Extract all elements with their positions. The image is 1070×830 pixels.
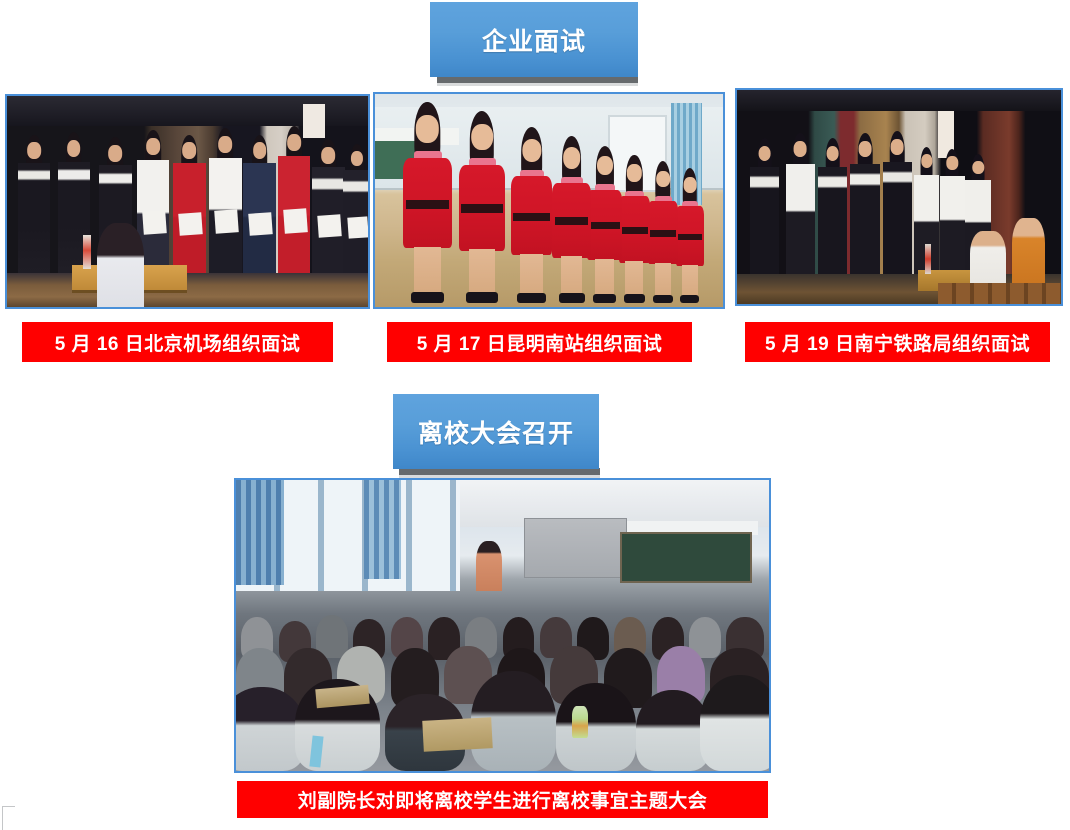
person-standing [940, 156, 966, 274]
person-red-uniform [552, 147, 590, 302]
photo-scene [236, 480, 769, 771]
person-seated-interviewer [97, 223, 144, 307]
photo-caption: 5 月 19 日南宁铁路局组织面试 [745, 322, 1050, 362]
person-standing [209, 136, 241, 273]
auditorium-seats [938, 283, 1061, 304]
photo-scene [375, 94, 723, 307]
water-bottle [83, 235, 91, 269]
curtain-left [236, 480, 284, 585]
section-header-interview-label: 企业面试 [482, 22, 586, 58]
projection-screen [524, 518, 627, 578]
textbox-corner-handle[interactable] [2, 806, 15, 830]
person-red-uniform [619, 164, 650, 302]
photo-caption: 5 月 16 日北京机场组织面试 [22, 322, 333, 362]
drink-bottle [572, 706, 588, 739]
person-standing [786, 141, 815, 274]
audience-head [556, 683, 636, 771]
person-standing [818, 146, 847, 274]
audience-head [700, 675, 771, 771]
blackboard [620, 532, 752, 583]
interview-header-shadow [437, 76, 638, 83]
person-standing [850, 141, 879, 274]
audience-crowd [236, 579, 769, 771]
stage-floor [7, 273, 368, 307]
assembly-header-shadow [399, 468, 600, 475]
person-red-uniform [511, 139, 553, 303]
document-folder [422, 717, 493, 751]
section-header-assembly[interactable]: 离校大会召开 [393, 394, 599, 469]
photo-nanning-railway-bureau-interview[interactable] [735, 88, 1063, 306]
curtain-middle [364, 480, 401, 579]
person-red-uniform [459, 124, 506, 303]
section-header-interview[interactable]: 企业面试 [430, 2, 638, 77]
person-standing [278, 134, 310, 273]
photo-scene [737, 90, 1061, 304]
person-red-uniform [587, 156, 622, 303]
person-seated-orange [1012, 218, 1044, 291]
hall-ceiling [737, 90, 1061, 111]
photo-graduation-assembly[interactable] [234, 478, 771, 773]
photo-kunming-south-station-interview[interactable] [373, 92, 725, 309]
person-standing [312, 147, 344, 274]
person-standing [18, 142, 50, 273]
photo-caption: 5 月 17 日昆明南站组织面试 [387, 322, 692, 362]
person-red-uniform [403, 115, 452, 302]
photo-beijing-airport-interview[interactable] [5, 94, 370, 309]
photo-scene [7, 96, 368, 307]
photo-caption: 刘副院长对即将离校学生进行离校事宜主题大会 [237, 781, 768, 818]
water-bottle [925, 244, 931, 274]
person-standing [173, 142, 205, 273]
person-red-uniform [648, 171, 678, 303]
person-standing [343, 151, 370, 273]
interview-header-shadow-soft [437, 83, 638, 86]
person-red-uniform [676, 177, 704, 303]
person-standing [243, 142, 275, 273]
document-folder [315, 684, 370, 708]
person-standing [883, 139, 912, 274]
person-standing [750, 146, 779, 274]
section-header-assembly-label: 离校大会召开 [418, 414, 574, 450]
